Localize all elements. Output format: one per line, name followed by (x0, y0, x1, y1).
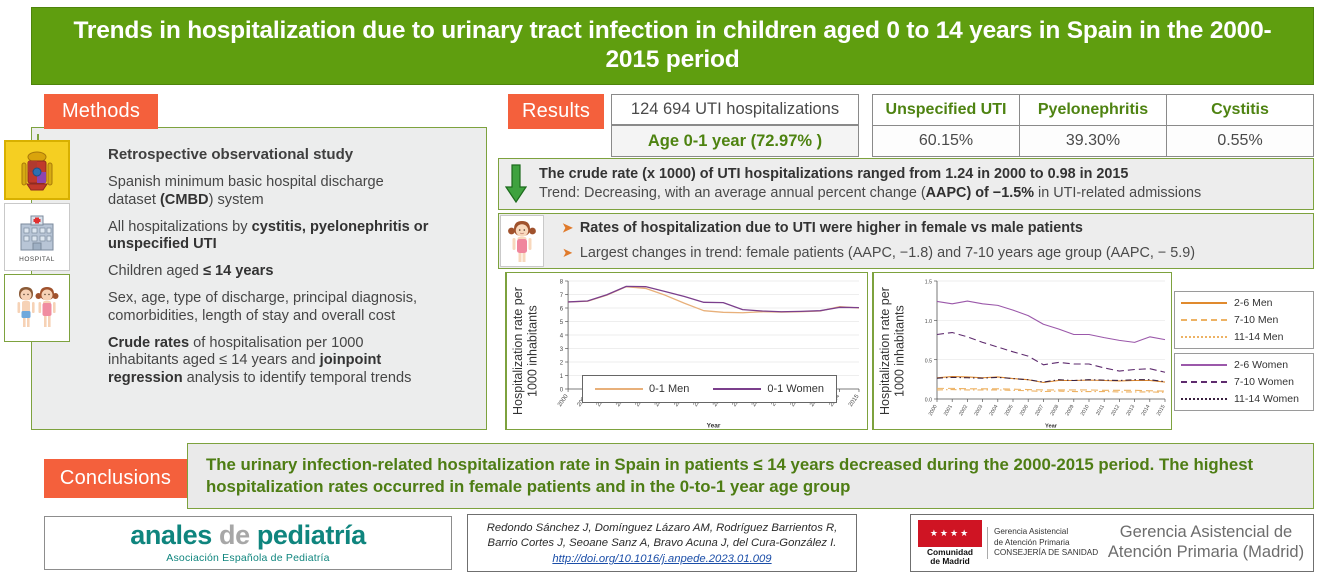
poster-root: Trends in hospitalization due to urinary… (0, 0, 1333, 576)
boy-glyph (18, 287, 35, 327)
madrid-health-logo: ★★★★ Comunidad de Madrid Gerencia Asiste… (910, 514, 1314, 572)
legend-label-women: 0-1 Women (767, 383, 824, 395)
svg-text:2013: 2013 (1125, 404, 1136, 417)
svg-text:2003: 2003 (973, 404, 984, 417)
chart-left-ylabel: Hospitalization rate per 1000 inhabitant… (506, 273, 544, 429)
citation-line-1: Redondo Sánchez J, Domínguez Lázaro AM, … (487, 521, 838, 536)
svg-text:7: 7 (560, 293, 564, 299)
section-tab-conclusions: Conclusions (44, 459, 187, 498)
svg-text:2001: 2001 (943, 404, 954, 417)
svg-text:2015: 2015 (848, 393, 861, 408)
svg-text:8: 8 (560, 280, 564, 286)
legend-label: 11-14 Men (1234, 331, 1283, 343)
journal-logo-word-1: anales (130, 520, 212, 550)
conclusions-panel: The urinary infection-related hospitaliz… (187, 443, 1314, 509)
legend-label-men: 0-1 Men (649, 383, 689, 395)
table-cell-cystitis: 0.55% (1167, 126, 1314, 157)
chart-age-groups-by-sex: Hospitalization rate per 1000 inhabitant… (872, 272, 1172, 430)
diagnosis-distribution-table: Unspecified UTI Pyelonephritis Cystitis … (872, 94, 1314, 157)
arrow-bullet-icon-2: ➤ (562, 245, 573, 260)
crude-rate-line-2: Trend: Decreasing, with an average annua… (539, 184, 1201, 203)
legend-swatch-men (595, 388, 643, 390)
female-rates-line-1: ➤Rates of hospitalization due to UTI wer… (562, 219, 1195, 238)
svg-text:5: 5 (560, 320, 564, 326)
svg-text:0.0: 0.0 (925, 398, 932, 404)
table-header-row: Unspecified UTI Pyelonephritis Cystitis (873, 95, 1314, 126)
svg-text:4: 4 (560, 334, 564, 340)
female-rates-text-block: ➤Rates of hospitalization due to UTI wer… (548, 219, 1195, 262)
results-age-highlight-text: Age 0-1 year (72.97% ) (648, 132, 822, 151)
legend-card-women: 2-6 Women7-10 Women11-14 Women (1174, 353, 1314, 411)
methods-panel: Retrospective observational study Spanis… (31, 127, 487, 430)
spain-flag-icon (4, 140, 70, 200)
crude-rate-aapc-value: ) of −1.5% (966, 185, 1034, 201)
section-tab-results: Results (508, 94, 604, 129)
svg-text:3: 3 (560, 347, 564, 353)
svg-text:2006: 2006 (1019, 404, 1030, 417)
svg-text:2000: 2000 (928, 404, 939, 417)
spain-coat-of-arms-glyph (17, 147, 57, 193)
svg-text:6: 6 (560, 307, 564, 313)
journal-logo-subtitle: Asociación Española de Pediatría (166, 552, 329, 564)
svg-text:1: 1 (560, 374, 564, 380)
svg-text:0.5: 0.5 (925, 358, 932, 364)
svg-text:2012: 2012 (1110, 404, 1121, 417)
legend-line-dashdot (1181, 398, 1227, 400)
comunidad-de-madrid-flag-icon: ★★★★ Comunidad de Madrid (917, 520, 983, 566)
methods-item-dataset: Spanish minimum basic hospital discharge… (108, 174, 478, 210)
down-arrow-icon (499, 163, 533, 205)
madrid-sub-2: de Atención Primaria (994, 538, 1105, 549)
legend-label: 11-14 Women (1234, 393, 1299, 405)
results-total-count: 124 694 UTI hospitalizations (611, 94, 859, 125)
chart-right-ylabel: Hospitalization rate per 1000 inhabitant… (873, 273, 911, 429)
methods-item-analysis: Crude rates of hospitalisation per 1000i… (108, 335, 478, 388)
madrid-title-1: Gerencia Asistencial de (1105, 523, 1307, 543)
madrid-title-block: Gerencia Asistencial de Atención Primari… (1105, 523, 1307, 563)
hospital-icon-label: HOSPITAL (19, 256, 55, 263)
children-icon (4, 274, 70, 342)
chart-right-plot: 0.00.51.01.52000200120022003200420052006… (911, 273, 1171, 429)
svg-text:2011: 2011 (1095, 404, 1106, 417)
table-row: 60.15% 39.30% 0.55% (873, 126, 1314, 157)
results-tab-label: Results (522, 100, 590, 123)
journal-logo-main: anales de pediatría (130, 522, 366, 549)
chart-left-plot: 0123456782000200120022003200420052006200… (544, 273, 867, 429)
svg-text:2007: 2007 (1034, 404, 1045, 417)
journal-logo-word-3: pediatría (257, 520, 366, 550)
legend-line-solid (1181, 302, 1227, 304)
crude-rate-callout: The crude rate (x 1000) of UTI hospitali… (498, 158, 1314, 210)
svg-text:2005: 2005 (1004, 404, 1015, 417)
legend-item-7-10-men: 7-10 Men (1181, 314, 1307, 326)
poster-title: Trends in hospitalization due to urinary… (31, 7, 1314, 85)
section-tab-methods: Methods (44, 94, 158, 129)
legend-item-11-14-women: 11-14 Women (1181, 393, 1307, 405)
poster-title-text: Trends in hospitalization due to urinary… (56, 17, 1289, 75)
legend-item-2-6-men: 2-6 Men (1181, 297, 1307, 309)
chart-right-legend: 2-6 Men7-10 Men11-14 Men 2-6 Women7-10 W… (1174, 272, 1314, 430)
female-rates-line-2: ➤Largest changes in trend: female patien… (562, 244, 1195, 263)
svg-text:Year: Year (1045, 424, 1058, 430)
methods-text-block: Retrospective observational study Spanis… (108, 146, 478, 397)
legend-item-0-1-women: 0-1 Women (713, 383, 824, 395)
madrid-title-2: Atención Primaria (Madrid) (1105, 543, 1307, 563)
legend-swatch-women (713, 388, 761, 390)
svg-text:2009: 2009 (1065, 404, 1076, 417)
svg-text:2014: 2014 (1141, 404, 1152, 417)
arrow-bullet-icon: ➤ (562, 220, 573, 235)
legend-line-dashed (1181, 319, 1227, 321)
legend-item-7-10-women: 7-10 Women (1181, 376, 1307, 388)
hospital-icon: HOSPITAL (4, 203, 70, 271)
svg-text:1.5: 1.5 (925, 280, 932, 286)
girl-glyph (36, 287, 59, 327)
green-down-arrow-glyph (505, 163, 527, 205)
hospital-building-glyph (13, 212, 61, 256)
table-cell-unspecified: 60.15% (873, 126, 1020, 157)
svg-text:2000: 2000 (557, 393, 570, 408)
chart-left-legend: 0-1 Men 0-1 Women (582, 375, 837, 403)
legend-line-solid (1181, 364, 1227, 366)
madrid-subtitle-block: Gerencia Asistencial de Atención Primari… (987, 527, 1105, 559)
legend-item-2-6-women: 2-6 Women (1181, 359, 1307, 371)
boy-and-girl-glyph (11, 283, 63, 333)
crude-rate-l2a: Trend: Decreasing, with an average annua… (539, 185, 926, 201)
journal-logo: anales de pediatría Asociación Española … (44, 516, 452, 570)
methods-item-age: Children aged ≤ 14 years (108, 263, 478, 281)
table-cell-pyelonephritis: 39.30% (1020, 126, 1167, 157)
legend-label: 7-10 Women (1234, 376, 1294, 388)
girl-figure-glyph (505, 218, 539, 264)
methods-item-variables: Sex, age, type of discharge, principal d… (108, 290, 478, 326)
legend-label: 2-6 Men (1234, 297, 1273, 309)
svg-text:1.0: 1.0 (925, 319, 932, 325)
svg-text:2010: 2010 (1080, 404, 1091, 417)
legend-line-dashed (1181, 381, 1227, 383)
svg-text:2: 2 (560, 361, 564, 367)
results-age-highlight: Age 0-1 year (72.97% ) (611, 125, 859, 157)
legend-item-11-14-men: 11-14 Men (1181, 331, 1307, 343)
svg-text:0: 0 (560, 388, 564, 394)
madrid-sub-1: Gerencia Asistencial (994, 527, 1105, 538)
girl-icon (500, 215, 544, 267)
madrid-caption-2: de Madrid (930, 556, 970, 566)
svg-text:2004: 2004 (989, 404, 1000, 417)
chart-0-1-years: Hospitalization rate per 1000 inhabitant… (505, 272, 868, 430)
table-header-cystitis: Cystitis (1167, 95, 1314, 126)
madrid-flag-stars: ★★★★ (918, 520, 982, 547)
madrid-sub-3: CONSEJERÍA DE SANIDAD (994, 548, 1105, 559)
crude-rate-text-block: The crude rate (x 1000) of UTI hospitali… (533, 165, 1201, 203)
legend-label: 2-6 Women (1234, 359, 1288, 371)
female-rates-line-1-text: Rates of hospitalization due to UTI were… (580, 220, 1083, 236)
results-total-count-text: 124 694 UTI hospitalizations (631, 100, 839, 119)
svg-text:2015: 2015 (1156, 404, 1167, 417)
crude-rate-aapc-label: AAPC (926, 185, 967, 201)
citation-line-2: Barrio Cortes J, Seoane Sanz A, Bravo Ac… (488, 536, 837, 551)
female-rates-callout: ➤Rates of hospitalization due to UTI wer… (498, 213, 1314, 269)
legend-line-dashdot (1181, 336, 1227, 338)
methods-icon-column: HOSPITAL (4, 140, 72, 345)
legend-label: 7-10 Men (1234, 314, 1278, 326)
table-header-unspecified: Unspecified UTI (873, 95, 1020, 126)
chart-right-svg: 0.00.51.01.52000200120022003200420052006… (911, 273, 1171, 429)
chart-left-svg: 0123456782000200120022003200420052006200… (544, 273, 867, 429)
methods-tab-label: Methods (62, 100, 140, 123)
crude-rate-line-1: The crude rate (x 1000) of UTI hospitali… (539, 165, 1201, 184)
svg-text:2008: 2008 (1049, 404, 1060, 417)
citation-box: Redondo Sánchez J, Domínguez Lázaro AM, … (467, 514, 857, 572)
conclusions-tab-label: Conclusions (60, 467, 171, 490)
methods-heading: Retrospective observational study (108, 146, 478, 163)
table-header-pyelonephritis: Pyelonephritis (1020, 95, 1167, 126)
legend-item-0-1-men: 0-1 Men (595, 383, 689, 395)
female-rates-line-2-text: Largest changes in trend: female patient… (580, 245, 1195, 261)
conclusions-text: The urinary infection-related hospitaliz… (206, 454, 1297, 498)
svg-text:Year: Year (707, 423, 721, 429)
crude-rate-l2d: in UTI-related admissions (1034, 185, 1201, 201)
journal-logo-word-2: de (219, 520, 250, 550)
methods-item-diagnoses: All hospitalizations by cystitis, pyelon… (108, 219, 478, 255)
madrid-flag-caption: Comunidad de Madrid (927, 548, 973, 566)
legend-card-men: 2-6 Men7-10 Men11-14 Men (1174, 291, 1314, 349)
doi-link[interactable]: http://doi.org/10.1016/j.anpede.2023.01.… (552, 553, 771, 565)
svg-text:2002: 2002 (958, 404, 969, 417)
